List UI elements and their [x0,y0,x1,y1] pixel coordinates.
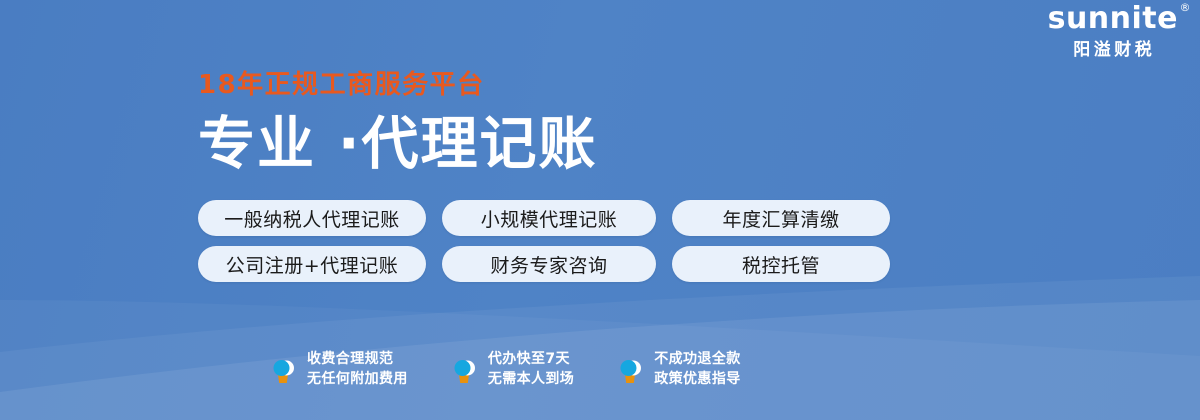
service-pill[interactable]: 小规模代理记账 [442,200,656,236]
feature-strip: 收费合理规范 无任何附加费用 代办快至7天 无需本人到场 [272,350,741,390]
service-pill-row-2: 公司注册+代理记账 财务专家咨询 税控托管 [198,246,890,282]
feature-line-2: 政策优惠指导 [654,370,740,390]
feature-label: 收费合理规范 无任何附加费用 [307,350,408,390]
service-pill[interactable]: 年度汇算清缴 [672,200,890,236]
hero-kicker: 18年正规工商服务平台 [198,72,598,98]
feature-label: 代办快至7天 无需本人到场 [488,350,574,390]
feature-item: 不成功退全款 政策优惠指导 [619,350,740,390]
service-pill[interactable]: 税控托管 [672,246,890,282]
service-pill-row-1: 一般纳税人代理记账 小规模代理记账 年度汇算清缴 [198,200,890,236]
service-pill-group: 一般纳税人代理记账 小规模代理记账 年度汇算清缴 公司注册+代理记账 财务专家咨… [198,200,890,292]
feature-item: 收费合理规范 无任何附加费用 [272,350,408,390]
logo-chinese-name: 阳溢财税 [1048,41,1178,58]
feature-line-2: 无需本人到场 [488,370,574,390]
service-pill[interactable]: 一般纳税人代理记账 [198,200,426,236]
promo-banner: sunnite ® 阳溢财税 18年正规工商服务平台 专业 ·代理记账 一般纳税… [0,0,1200,420]
logo-wordmark-text: sunnite [1048,1,1178,36]
registered-trademark-icon: ® [1180,2,1192,13]
service-pill[interactable]: 公司注册+代理记账 [198,246,426,282]
badge-icon [619,355,645,385]
feature-line-1: 不成功退全款 [654,351,740,367]
feature-line-1: 代办快至7天 [488,351,570,367]
hero-headline: 专业 ·代理记账 [198,114,598,176]
badge-icon [453,355,479,385]
hero-text-block: 18年正规工商服务平台 专业 ·代理记账 [198,72,598,176]
feature-label: 不成功退全款 政策优惠指导 [654,350,740,390]
logo-wordmark: sunnite ® [1048,4,1178,34]
feature-line-2: 无任何附加费用 [307,370,408,390]
badge-icon [272,355,298,385]
feature-line-1: 收费合理规范 [307,351,393,367]
service-pill[interactable]: 财务专家咨询 [442,246,656,282]
brand-logo[interactable]: sunnite ® 阳溢财税 [1048,4,1178,58]
feature-item: 代办快至7天 无需本人到场 [453,350,574,390]
